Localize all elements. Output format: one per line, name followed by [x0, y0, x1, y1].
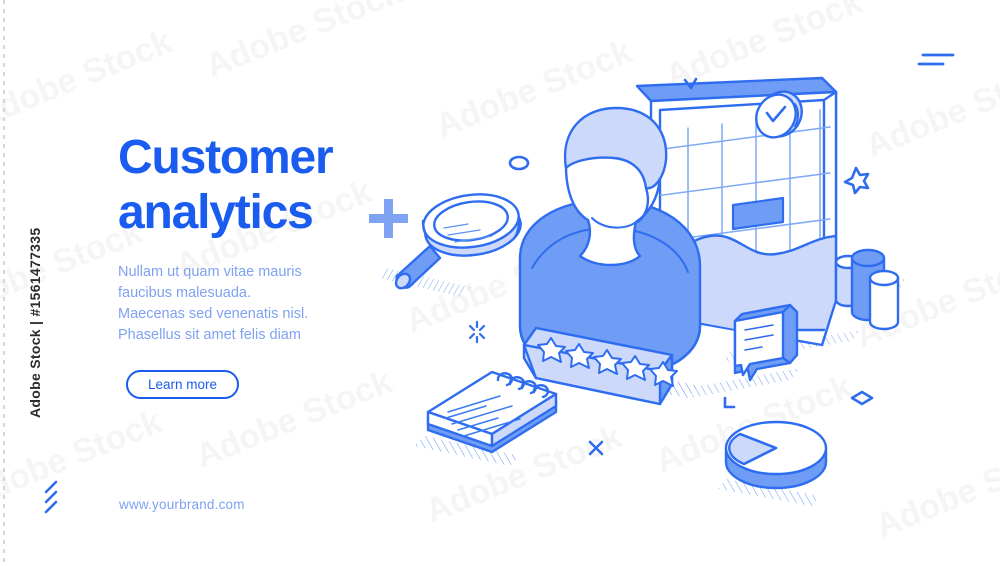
chat-bubble [735, 305, 797, 380]
poster-canvas: Adobe Stock Adobe Stock Adobe Stock Adob… [0, 0, 1000, 566]
cylinder-group [836, 250, 898, 329]
isometric-illustration [0, 0, 1000, 566]
double-rule [919, 55, 953, 64]
corner-mark [725, 398, 734, 407]
star-outline [845, 168, 868, 193]
sparkle-burst [470, 322, 484, 342]
triple-slash [46, 482, 56, 512]
pie-chart [726, 422, 826, 488]
magnifier [393, 189, 524, 291]
notepad [428, 372, 556, 452]
ellipse-outline [510, 157, 528, 169]
diamond-outline [852, 392, 872, 404]
x-mark [590, 442, 602, 454]
